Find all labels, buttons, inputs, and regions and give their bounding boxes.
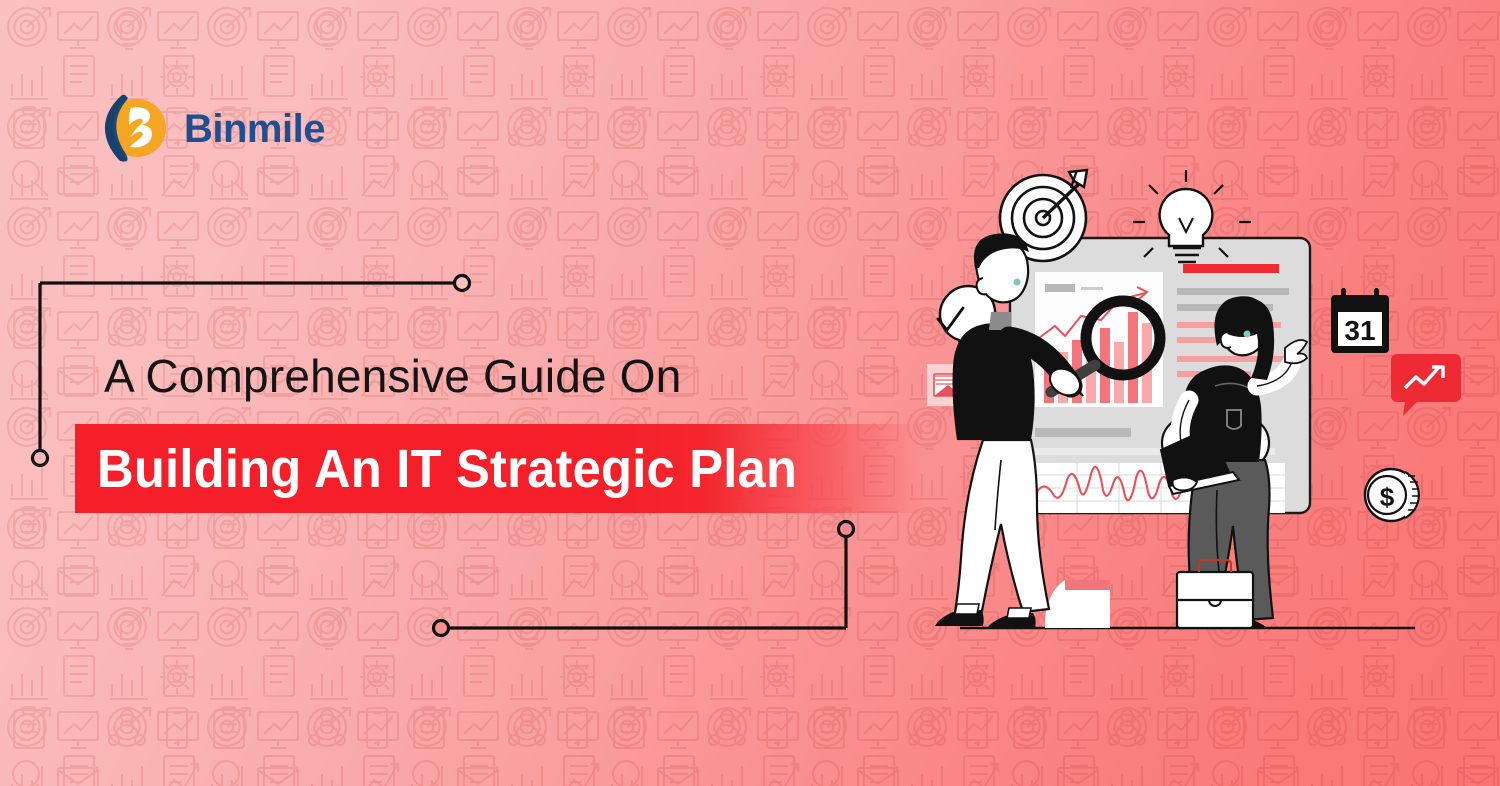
calendar-icon: 31 — [1331, 288, 1389, 353]
headline-line-1: A Comprehensive Guide On — [104, 352, 682, 400]
dollar-coin-icon: $ — [1365, 469, 1419, 521]
brand-name: Binmile — [184, 109, 325, 149]
floor-block — [1045, 580, 1110, 628]
coin-symbol-label: $ — [1380, 482, 1395, 512]
it-strategy-team-analytics-illustration: 31 $ — [905, 160, 1465, 660]
brand-logo[interactable]: Binmile — [96, 92, 325, 166]
headline-line-2: Building An IT Strategic Plan — [97, 432, 797, 507]
binmile-b-leaf-logo-icon — [96, 92, 170, 166]
board-title-bar — [1183, 264, 1279, 273]
growth-chat-bubble-icon — [1391, 354, 1461, 416]
hero-illustration: 31 $ — [905, 160, 1465, 660]
calendar-day-label: 31 — [1344, 315, 1375, 346]
